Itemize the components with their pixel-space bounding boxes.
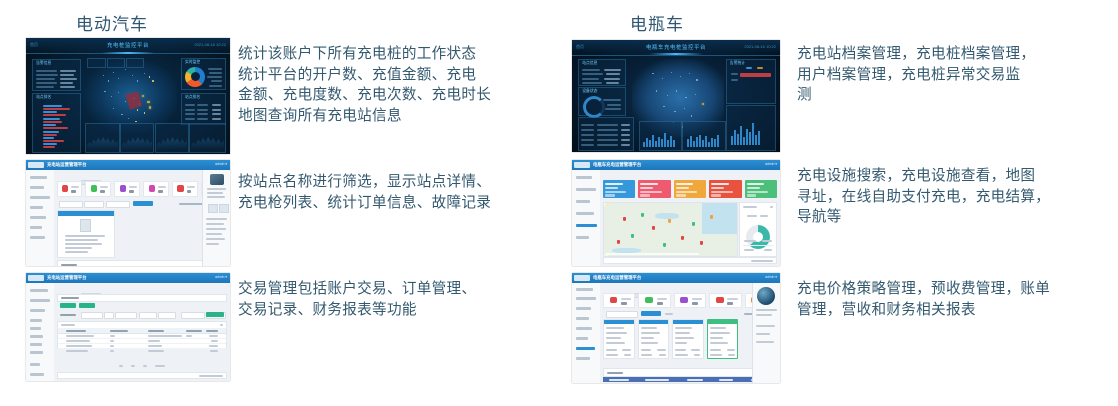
section-header-bar: [57, 260, 227, 266]
breadcrumb[interactable]: [603, 173, 777, 178]
description-ebike-facility: 充电设施搜索，充电设施查看，地图 寻址，在线自助支付充电，充电结算， 导航等: [797, 166, 1115, 228]
dashboard-canvas: 充电桩监控平台 首页 2021-08-16 10:22: [26, 38, 230, 154]
admin-sidebar[interactable]: [572, 283, 601, 383]
admin-canvas: 电瓶车充电运营管理平台 admin ▾: [572, 273, 780, 383]
panel-alerts[interactable]: 告警信息: [32, 59, 81, 91]
column-heading-electric-vehicle: 电动汽车: [76, 10, 148, 35]
panel-alarm-stats[interactable]: 站点排名: [181, 93, 226, 125]
china-map: [87, 59, 173, 131]
map-highlight-region: [125, 91, 142, 110]
admin-content: [600, 170, 780, 266]
kpi-card[interactable]: [638, 180, 670, 198]
description-ev-dashboard: 统计该账户下所有充电桩的工作状态 统计平台的开户数、充值金额、充电 金额、充电度…: [238, 44, 558, 126]
status-bar: [57, 372, 227, 379]
breadcrumb[interactable]: [57, 286, 227, 291]
panel-alarm-stats-title: 站点排名: [185, 95, 200, 101]
brand-logo-icon: [28, 162, 44, 168]
section-header-bar: [603, 368, 777, 377]
brand-logo-icon: [574, 275, 590, 281]
admin-canvas: 电瓶车充电运营管理平台 admin ▾: [572, 160, 780, 266]
thumbnail-ev-station-detail[interactable]: 充电站运营管理平台 admin ▾: [26, 160, 230, 266]
dashboard-title-underline: [649, 53, 703, 55]
action-buttons[interactable]: [57, 303, 227, 309]
admin-canvas: 充电站运营管理平台 admin ▾: [26, 160, 230, 266]
panel-trend-3[interactable]: [155, 123, 190, 153]
data-table[interactable]: [57, 321, 227, 349]
admin-right-panel: [202, 170, 230, 266]
panel-realtime[interactable]: 实时监控: [181, 58, 226, 90]
stat-card[interactable]: [114, 181, 140, 197]
dashboard-clock: 2021-08-16 10:22: [194, 42, 226, 47]
admin-header: 充电站运营管理平台 admin ▾: [26, 273, 230, 283]
description-ebike-archives: 充电站档案管理，充电桩档案管理， 用户档案管理，充电桩异常交易监 测: [797, 44, 1115, 106]
admin-brand-title: 电瓶车充电运营管理平台: [593, 275, 641, 281]
stat-card[interactable]: [674, 293, 706, 308]
filter-toolbar[interactable]: [57, 201, 227, 207]
slide-root: 电动汽车 电瓶车 充电桩监控平台 首页 2021-08-16 10:22: [0, 0, 1118, 406]
station-detail-card[interactable]: [57, 210, 115, 258]
panel-trend-2[interactable]: [120, 123, 155, 153]
dashboard-home-link[interactable]: 首页: [576, 44, 584, 50]
device-status-donut: [583, 96, 605, 118]
avatar: [757, 287, 775, 305]
stat-card[interactable]: [172, 181, 198, 197]
thumbnail-ev-transaction-table[interactable]: 充电站运营管理平台 admin ▾: [26, 273, 230, 381]
admin-user-menu[interactable]: admin ▾: [765, 275, 777, 279]
panel-trend-4[interactable]: [189, 123, 226, 153]
admin-header: 充电站运营管理平台 admin ▾: [26, 160, 230, 170]
panel-device-status-title: 设备状态: [582, 89, 597, 95]
description-ebike-pricing: 充电价格策略管理，预收费管理，账单 管理，营收和财务相关报表: [797, 279, 1115, 320]
kpi-card[interactable]: [709, 180, 741, 198]
admin-right-panel: [752, 283, 780, 383]
price-plan-card[interactable]: [603, 319, 634, 359]
admin-header: 电瓶车充电运营管理平台 admin ▾: [572, 160, 780, 170]
stat-card[interactable]: [85, 181, 111, 197]
statistics-side-card[interactable]: [739, 202, 777, 257]
stat-card[interactable]: [57, 181, 83, 197]
thumbnail-ebike-pricing-billing[interactable]: 电瓶车充电运营管理平台 admin ▾: [572, 273, 780, 383]
kpi-card-strip: [603, 180, 777, 198]
thumbnail-ebike-facility-map[interactable]: 电瓶车充电运营管理平台 admin ▾: [572, 160, 780, 266]
brand-logo-icon: [28, 275, 44, 281]
price-plan-card[interactable]: [638, 319, 669, 359]
stat-card[interactable]: [709, 293, 741, 308]
panel-station-ranking-title: 站点排名: [36, 95, 51, 101]
thumbnail-ev-monitoring-dashboard[interactable]: 充电桩监控平台 首页 2021-08-16 10:22: [26, 38, 230, 154]
search-toolbar[interactable]: [603, 311, 777, 317]
stat-card-strip: [57, 181, 227, 197]
avatar: [210, 174, 224, 185]
kpi-card[interactable]: [603, 180, 635, 198]
panel-charge-stats-2[interactable]: [682, 121, 726, 151]
panel-alarm-statistics[interactable]: 告警统计: [726, 59, 776, 104]
map-filter-tab-2[interactable]: [107, 58, 125, 68]
facility-map[interactable]: [603, 202, 738, 257]
admin-sidebar[interactable]: [572, 170, 601, 266]
dashboard-canvas: 电瓶车充电桩监控平台 首页 2021-08-16 10:22 站点信息: [572, 40, 780, 152]
dashboard-title: 充电桩监控平台: [107, 41, 149, 49]
column-heading-electric-bike: 电瓶车: [630, 10, 684, 35]
stat-card[interactable]: [603, 293, 635, 308]
price-plan-card-row: [603, 319, 738, 359]
map-filter-tab-1[interactable]: [87, 58, 105, 68]
breadcrumb[interactable]: [57, 173, 227, 178]
panel-device-status[interactable]: 设备状态: [578, 87, 626, 116]
description-ev-station-detail: 按站点名称进行筛选，显示站点详情、 充电枪列表、统计订单信息、故障记录: [238, 172, 558, 213]
panel-charge-stats-1[interactable]: [639, 121, 683, 151]
admin-user-menu[interactable]: admin ▾: [215, 162, 227, 166]
stat-card[interactable]: [638, 293, 670, 308]
stat-card[interactable]: [143, 181, 169, 197]
admin-sidebar[interactable]: [26, 170, 55, 266]
admin-user-menu[interactable]: admin ▾: [215, 275, 227, 279]
panel-station-ranking[interactable]: 站点排名: [32, 93, 81, 153]
filter-toolbar[interactable]: [57, 312, 227, 318]
panel-trend-1[interactable]: [85, 123, 120, 153]
pagination: [117, 354, 167, 372]
admin-canvas: 充电站运营管理平台 admin ▾: [26, 273, 230, 381]
admin-header: 电瓶车充电运营管理平台 admin ▾: [572, 273, 780, 283]
panel-station-table[interactable]: [578, 117, 634, 150]
brand-logo-icon: [574, 162, 590, 168]
admin-brand-title: 充电站运营管理平台: [47, 162, 87, 168]
admin-user-menu[interactable]: admin ▾: [765, 162, 777, 166]
panel-alerts-title: 告警信息: [36, 61, 51, 67]
panel-station-info-title: 站点信息: [582, 61, 597, 67]
admin-content: [54, 283, 230, 381]
panel-station-info[interactable]: 站点信息: [578, 59, 626, 86]
admin-brand-title: 充电站运营管理平台: [47, 275, 87, 281]
kpi-card[interactable]: [745, 180, 777, 198]
thumbnail-ebike-monitoring-dashboard[interactable]: 电瓶车充电桩监控平台 首页 2021-08-16 10:22 站点信息: [572, 40, 780, 152]
kpi-card[interactable]: [674, 180, 706, 198]
status-bar: [603, 257, 777, 264]
price-plan-card-selected[interactable]: [707, 319, 738, 359]
breadcrumb[interactable]: [603, 286, 777, 291]
map-filter-tab-3[interactable]: [126, 58, 144, 68]
panel-alarm-statistics-title: 告警统计: [730, 61, 745, 67]
dashboard-title-underline: [101, 52, 154, 54]
stat-card-strip: [603, 293, 777, 308]
dashboard-title: 电瓶车充电桩监控平台: [646, 43, 706, 51]
price-plan-card[interactable]: [672, 319, 703, 359]
description-ev-transactions: 交易管理包括账户交易、订单管理、 交易记录、财务报表等功能: [238, 279, 558, 320]
admin-brand-title: 电瓶车充电运营管理平台: [593, 162, 641, 168]
bill-table-header: [603, 377, 777, 382]
panel-realtime-title: 实时监控: [185, 60, 200, 66]
dashboard-home-link[interactable]: 首页: [30, 42, 38, 48]
page-title-bar: [57, 294, 227, 302]
realtime-donut-chart: [185, 67, 205, 87]
admin-sidebar[interactable]: [26, 283, 55, 381]
panel-charge-stats-3[interactable]: [726, 105, 776, 151]
dashboard-clock: 2021-08-16 10:22: [744, 44, 776, 49]
